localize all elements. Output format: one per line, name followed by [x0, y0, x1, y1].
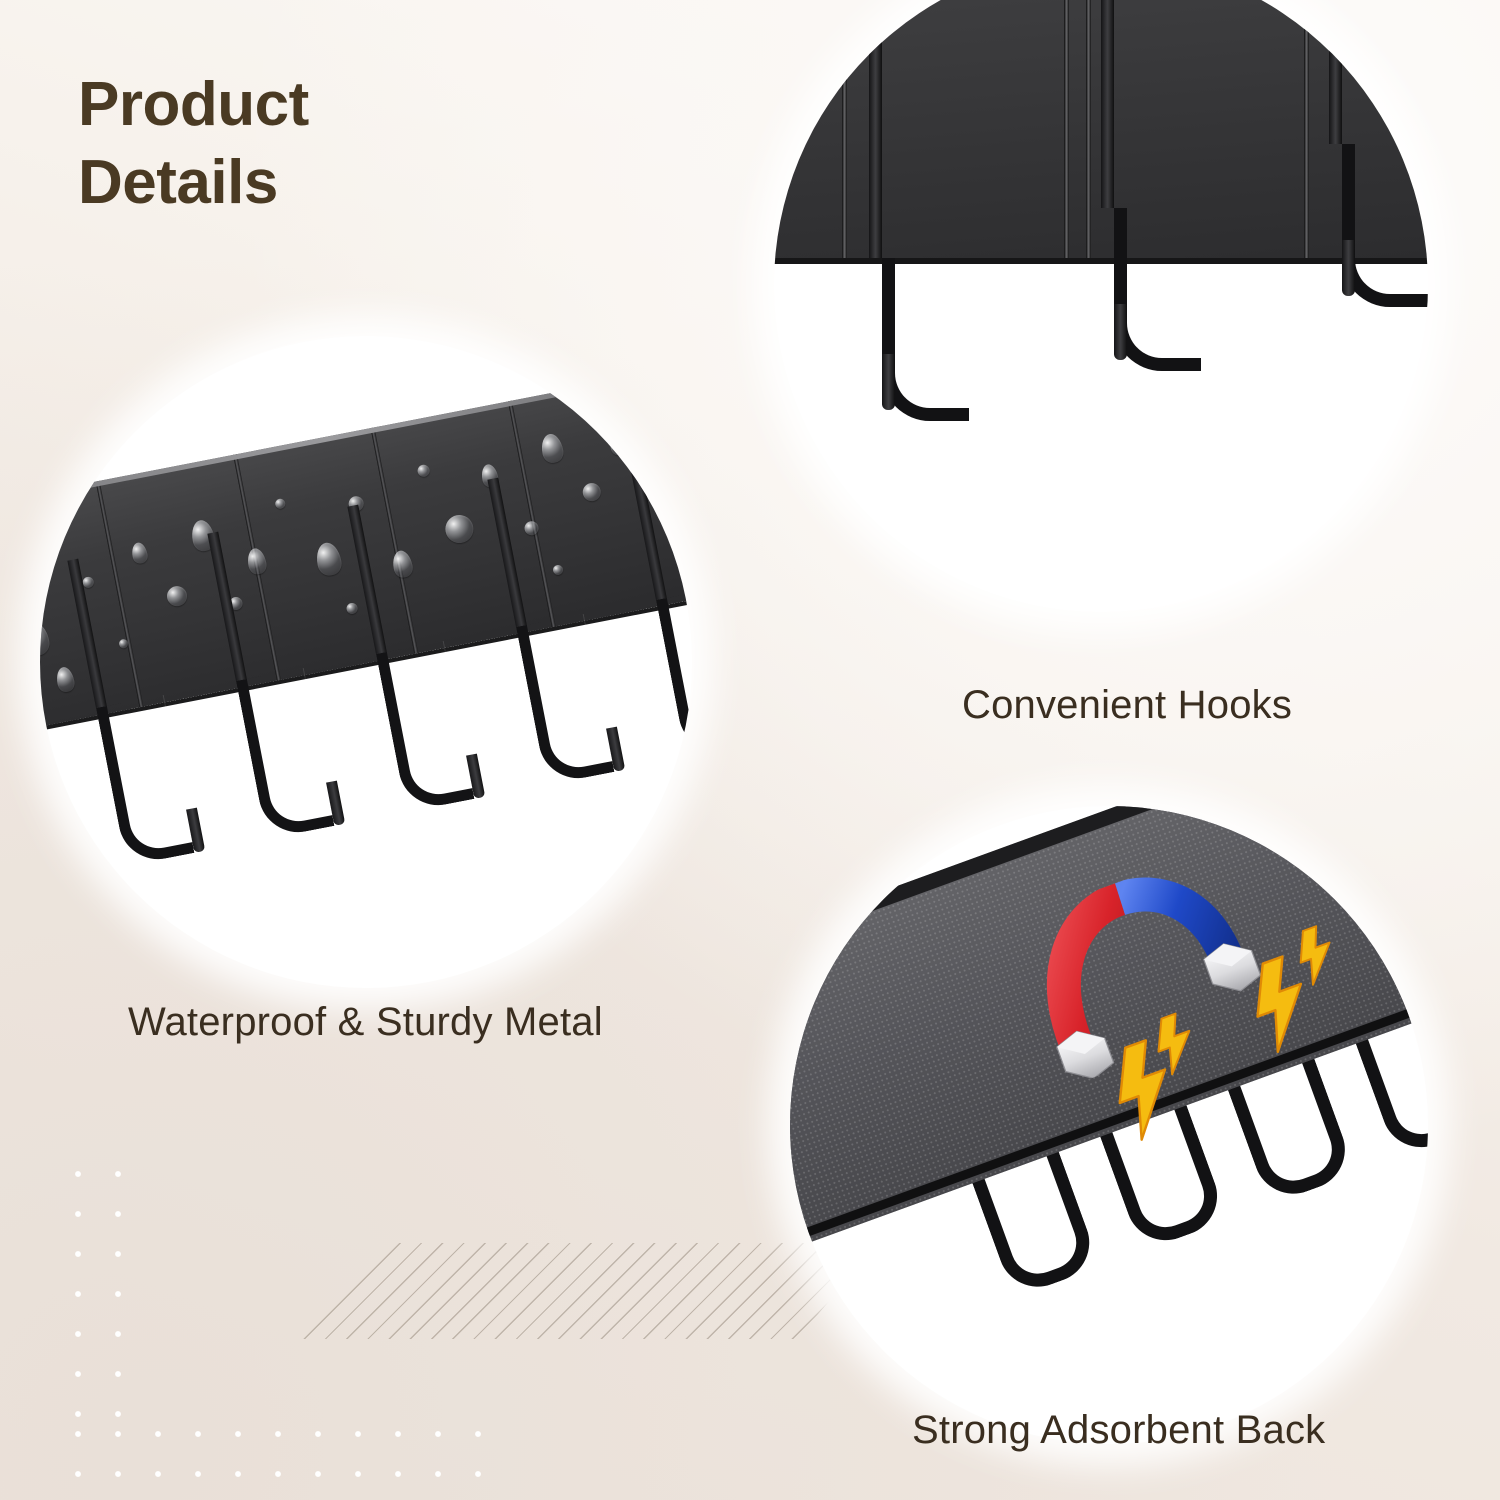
panel-waterproof-image [40, 336, 692, 988]
caption-waterproof-sturdy-metal: Waterproof & Sturdy Metal [128, 1000, 603, 1045]
panel-magnet-image [790, 806, 1428, 1444]
dot-grid-row [52, 1408, 492, 1488]
panel-hooks-image [774, 0, 1428, 612]
waterproof-scene [40, 336, 692, 988]
hooks-scene [774, 0, 1428, 612]
magnet-scene [790, 806, 1428, 1444]
caption-strong-adsorbent-back: Strong Adsorbent Back [912, 1408, 1325, 1453]
product-details-infographic: Product Details [0, 0, 1500, 1500]
caption-convenient-hooks: Convenient Hooks [962, 683, 1292, 728]
dot-grid-column [52, 1148, 132, 1438]
page-title: Product Details [78, 66, 698, 221]
